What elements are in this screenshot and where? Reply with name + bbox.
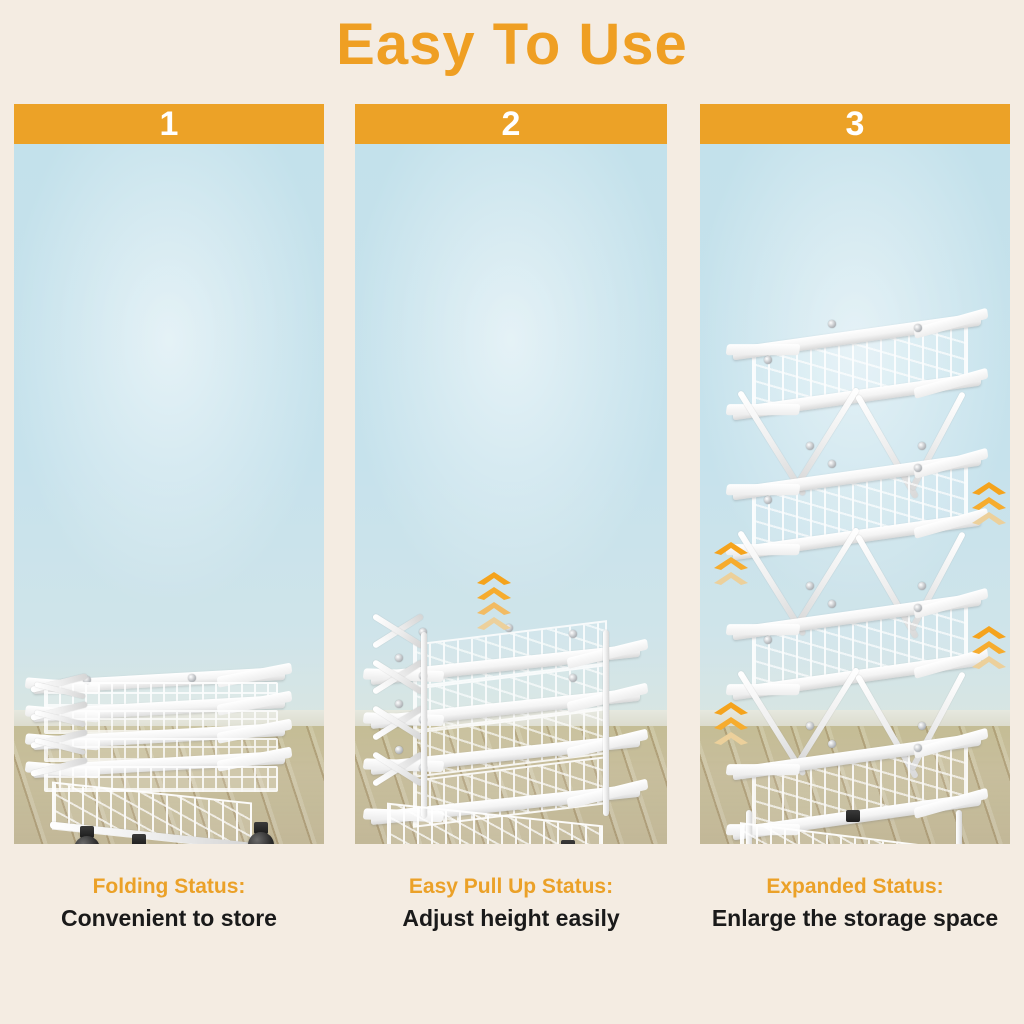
chevron-up-icon bbox=[714, 542, 748, 555]
chevron-up-icon bbox=[972, 641, 1006, 654]
rivet bbox=[914, 324, 922, 332]
base-tray-mesh bbox=[740, 822, 966, 844]
caption-subtitle: Convenient to store bbox=[14, 902, 324, 934]
step-panel-1: 1 bbox=[14, 104, 324, 844]
pivot-rivet bbox=[395, 700, 403, 708]
rivet bbox=[914, 604, 922, 612]
rivet bbox=[188, 674, 196, 682]
caster-stem bbox=[132, 834, 146, 844]
leg-post bbox=[956, 810, 962, 844]
up-chevron-arrow-group bbox=[714, 702, 748, 747]
pivot-rivet bbox=[806, 442, 814, 450]
caption-title: Easy Pull Up Status: bbox=[355, 872, 667, 902]
pivot-rivet bbox=[918, 442, 926, 450]
chevron-up-icon bbox=[972, 512, 1006, 525]
rivet bbox=[828, 740, 836, 748]
pivot-rivet bbox=[395, 654, 403, 662]
pivot-rivet bbox=[395, 746, 403, 754]
chevron-up-icon bbox=[714, 732, 748, 745]
chevron-up-icon bbox=[477, 602, 511, 615]
caster-stem bbox=[846, 810, 860, 822]
rivet bbox=[764, 496, 772, 504]
step-panel-2: 2 bbox=[355, 104, 667, 844]
chevron-up-icon bbox=[477, 617, 511, 630]
step-caption-3: Expanded Status: Enlarge the storage spa… bbox=[700, 872, 1010, 934]
up-chevron-arrow-group bbox=[714, 542, 748, 587]
up-chevron-arrow-group bbox=[477, 572, 511, 632]
page-title: Easy To Use bbox=[0, 6, 1024, 84]
chevron-up-icon bbox=[477, 572, 511, 585]
scene-expanded-status bbox=[700, 144, 1010, 844]
rivet bbox=[764, 356, 772, 364]
side-post bbox=[421, 632, 427, 818]
rivet bbox=[764, 636, 772, 644]
step-number-badge-1: 1 bbox=[14, 104, 324, 144]
step-caption-2: Easy Pull Up Status: Adjust height easil… bbox=[355, 872, 667, 934]
expanded-basket-cart bbox=[728, 294, 986, 844]
pivot-rivet bbox=[918, 582, 926, 590]
chevron-up-icon bbox=[714, 702, 748, 715]
caption-title: Expanded Status: bbox=[700, 872, 1010, 902]
rivet bbox=[569, 674, 577, 682]
chevron-up-icon bbox=[714, 717, 748, 730]
caster-stem bbox=[561, 840, 575, 844]
up-chevron-arrow-group bbox=[972, 626, 1006, 671]
rivet bbox=[569, 630, 577, 638]
chevron-up-icon bbox=[972, 497, 1006, 510]
pivot-rivet bbox=[806, 722, 814, 730]
caption-title: Folding Status: bbox=[14, 872, 324, 902]
chevron-up-icon bbox=[714, 557, 748, 570]
side-post bbox=[603, 630, 609, 816]
step-panel-3: 3 bbox=[700, 104, 1010, 844]
step-caption-1: Folding Status: Convenient to store bbox=[14, 872, 324, 934]
pivot-rivet bbox=[918, 722, 926, 730]
chevron-up-icon bbox=[972, 656, 1006, 669]
rivet bbox=[828, 460, 836, 468]
step-number-badge-3: 3 bbox=[700, 104, 1010, 144]
folded-basket-cart bbox=[28, 674, 290, 844]
caption-subtitle: Adjust height easily bbox=[355, 902, 667, 934]
pivot-rivet bbox=[806, 582, 814, 590]
up-chevron-arrow-group bbox=[972, 482, 1006, 527]
scene-folding-status bbox=[14, 144, 324, 844]
caption-subtitle: Enlarge the storage space bbox=[700, 902, 1010, 934]
chevron-up-icon bbox=[972, 626, 1006, 639]
rivet bbox=[828, 320, 836, 328]
half-expanded-basket-cart bbox=[365, 622, 645, 844]
caster-wheel bbox=[74, 836, 100, 844]
scene-easy-pull-up-status bbox=[355, 144, 667, 844]
rivet bbox=[828, 600, 836, 608]
chevron-up-icon bbox=[972, 482, 1006, 495]
rivet bbox=[914, 464, 922, 472]
chevron-up-icon bbox=[714, 572, 748, 585]
step-number-badge-2: 2 bbox=[355, 104, 667, 144]
chevron-up-icon bbox=[477, 587, 511, 600]
rivet bbox=[914, 744, 922, 752]
